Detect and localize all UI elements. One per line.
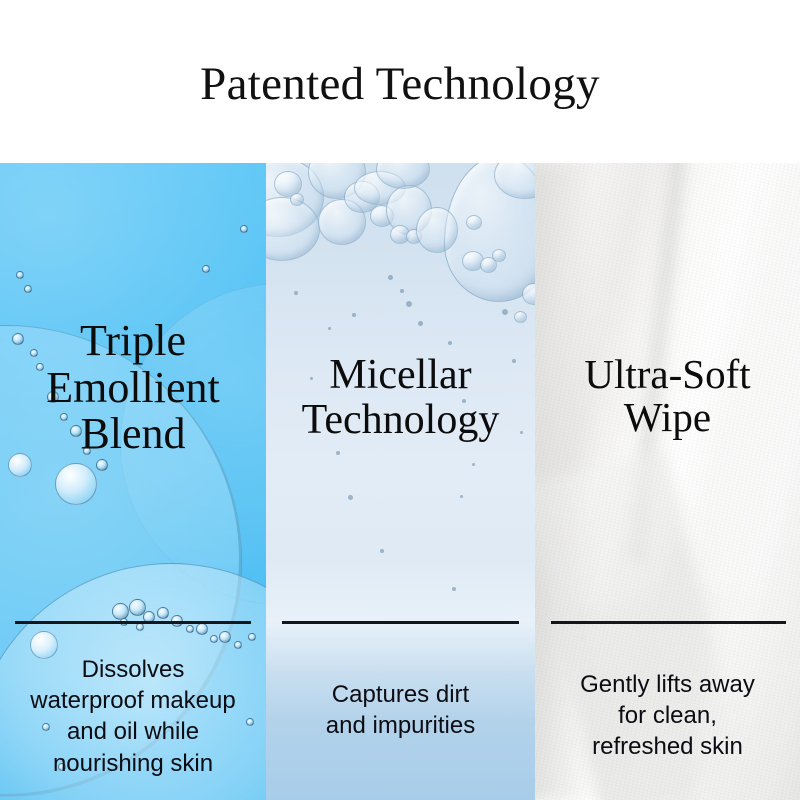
panel-heading: Micellar Technology bbox=[266, 353, 535, 442]
feature-panel-ultra-soft-wipe: Ultra-Soft Wipe Gently lifts away for cl… bbox=[535, 163, 800, 800]
panel-heading: Ultra-Soft Wipe bbox=[535, 353, 800, 440]
panel-divider bbox=[551, 621, 786, 624]
page-title: Patented Technology bbox=[200, 61, 600, 108]
panel-heading: Triple Emollient Blend bbox=[0, 318, 266, 458]
feature-panels: Triple Emollient Blend Dissolves waterpr… bbox=[0, 163, 800, 800]
feature-panel-triple-emollient-blend: Triple Emollient Blend Dissolves waterpr… bbox=[0, 163, 266, 800]
panel-divider bbox=[282, 621, 519, 624]
patented-technology-infographic: Patented Technology bbox=[0, 0, 800, 800]
panel-divider bbox=[15, 621, 251, 624]
feature-panel-micellar-technology: Micellar Technology Captures dirt and im… bbox=[266, 163, 535, 800]
panel-caption: Gently lifts away for clean, refreshed s… bbox=[535, 669, 800, 763]
header: Patented Technology bbox=[0, 0, 800, 163]
panel-caption: Dissolves waterproof makeup and oil whil… bbox=[0, 654, 266, 779]
panel-caption: Captures dirt and impurities bbox=[266, 679, 535, 741]
panel-content: Triple Emollient Blend Dissolves waterpr… bbox=[0, 163, 266, 800]
panel-content: Micellar Technology Captures dirt and im… bbox=[266, 163, 535, 800]
panel-content: Ultra-Soft Wipe Gently lifts away for cl… bbox=[535, 163, 800, 800]
